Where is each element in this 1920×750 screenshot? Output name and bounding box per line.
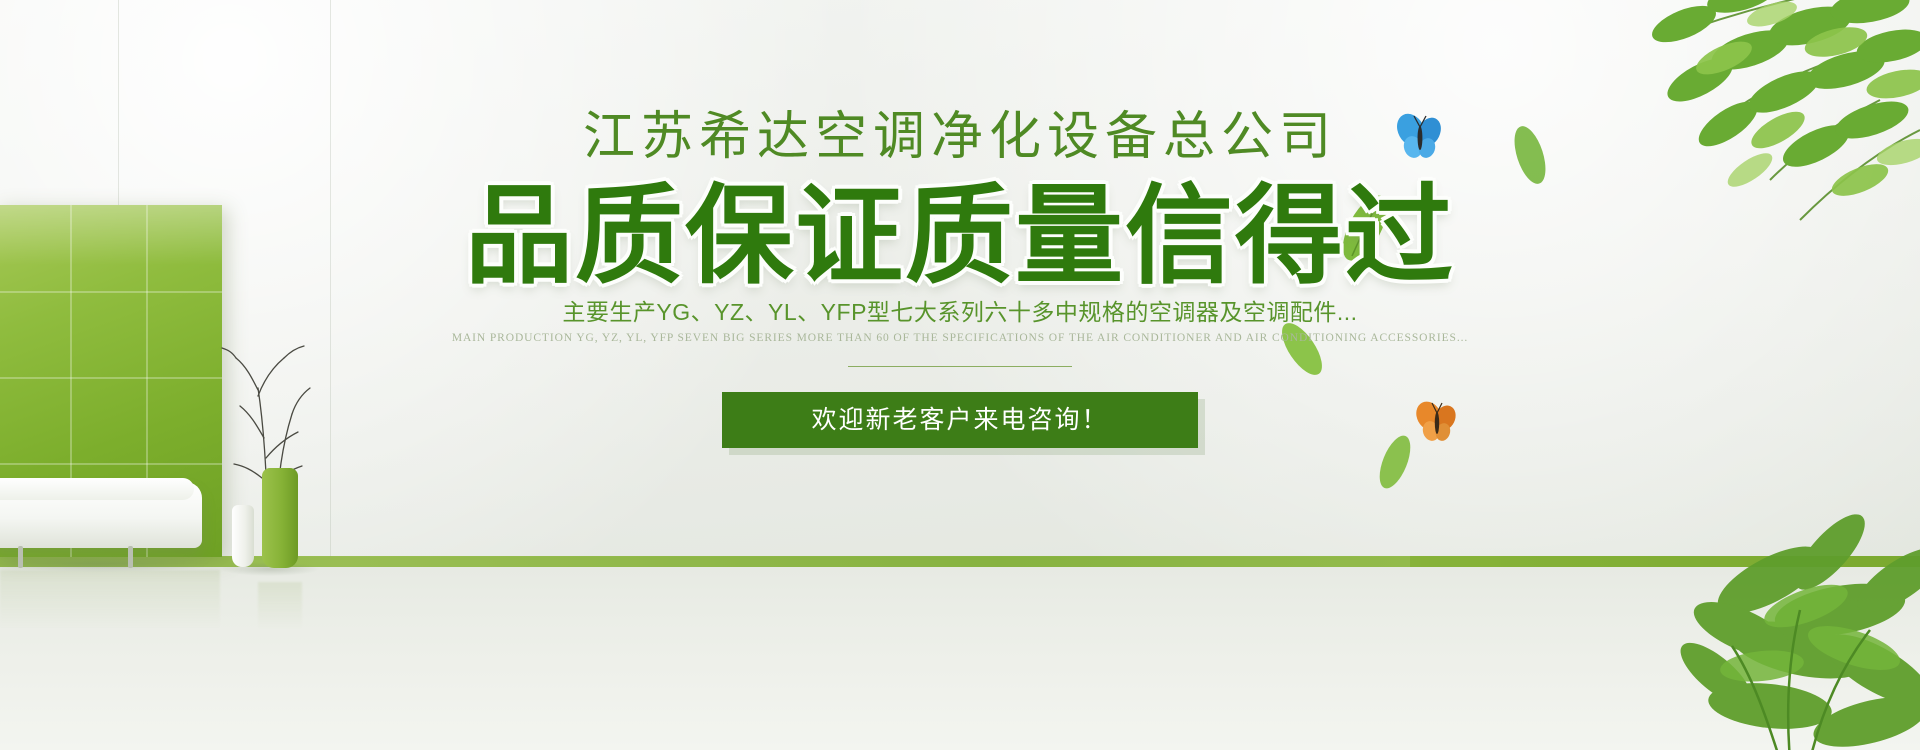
contact-cta-button[interactable]: 欢迎新老客户来电咨询！	[722, 392, 1198, 448]
hero-description-cn: 主要生产YG、YZ、YL、YFP型七大系列六十多中规格的空调器及空调配件...	[0, 296, 1920, 328]
divider	[848, 366, 1072, 367]
hero-headline: 品质保证质量信得过	[0, 178, 1920, 294]
hero-content: 江苏希达空调净化设备总公司 品质保证质量信得过 主要生产YG、YZ、YL、YFP…	[0, 0, 1920, 750]
hero-banner: 江苏希达空调净化设备总公司 品质保证质量信得过 主要生产YG、YZ、YL、YFP…	[0, 0, 1920, 750]
company-name: 江苏希达空调净化设备总公司	[0, 107, 1920, 167]
hero-description-en: MAIN PRODUCTION YG, YZ, YL, YFP SEVEN BI…	[0, 330, 1920, 346]
